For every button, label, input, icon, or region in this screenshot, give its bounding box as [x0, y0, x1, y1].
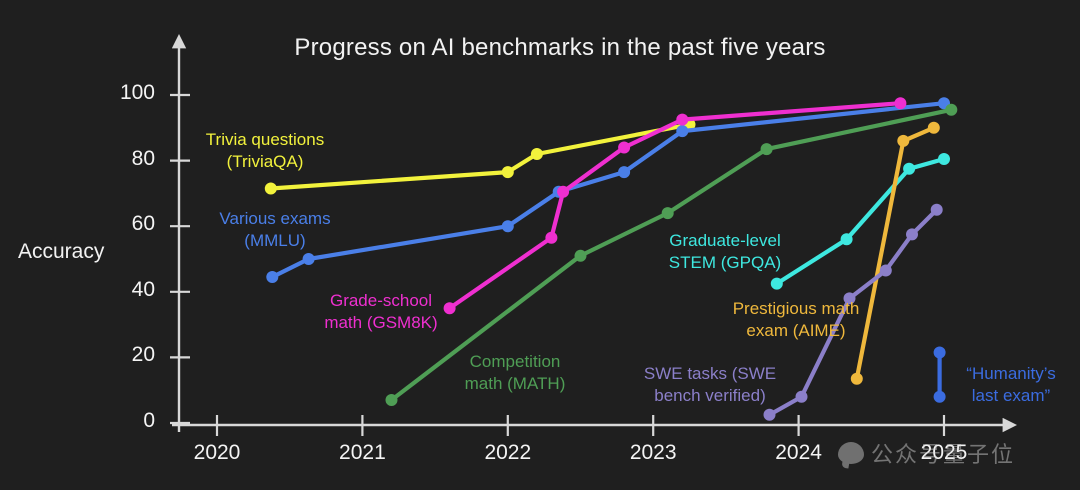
- series-label-line: Trivia questions: [190, 129, 340, 151]
- y-tick-label: 40: [85, 278, 155, 302]
- series-label-line: (MMLU): [200, 230, 350, 252]
- series-label-line: Graduate-level: [650, 230, 800, 252]
- chart-plot-area: [0, 0, 1080, 490]
- series-label-7: “Humanity’slast exam”: [946, 363, 1076, 407]
- series-5: [851, 122, 940, 385]
- y-tick-label: 100: [85, 81, 155, 105]
- y-tick-label: 0: [85, 409, 155, 433]
- series-label-line: Various exams: [200, 208, 350, 230]
- y-tick-label: 60: [85, 212, 155, 236]
- x-tick-label: 2024: [754, 441, 844, 465]
- series-label-line: math (MATH): [440, 373, 590, 395]
- series-label-line: Grade-school: [306, 290, 456, 312]
- series-label-4: Graduate-levelSTEM (GPQA): [650, 230, 800, 274]
- series-label-line: STEM (GPQA): [650, 252, 800, 274]
- series-label-5: Prestigious mathexam (AIME): [716, 298, 876, 342]
- series-label-line: exam (AIME): [716, 320, 876, 342]
- x-tick-label: 2023: [608, 441, 698, 465]
- series-label-line: (TriviaQA): [190, 151, 340, 173]
- x-tick-label: 2022: [463, 441, 553, 465]
- chart-series-group: [265, 97, 958, 421]
- y-tick-label: 20: [85, 343, 155, 367]
- series-label-6: SWE tasks (SWEbench verified): [625, 363, 795, 407]
- y-axis-label: Accuracy: [18, 240, 104, 264]
- series-label-line: last exam”: [946, 385, 1076, 407]
- series-label-line: SWE tasks (SWE: [625, 363, 795, 385]
- series-label-line: bench verified): [625, 385, 795, 407]
- series-label-line: “Humanity’s: [946, 363, 1076, 385]
- series-1: [266, 97, 950, 283]
- series-label-3: Competitionmath (MATH): [440, 351, 590, 395]
- series-label-line: math (GSM8K): [306, 312, 456, 334]
- x-tick-label: 2020: [172, 441, 262, 465]
- chart-title: Progress on AI benchmarks in the past fi…: [0, 34, 1080, 62]
- series-label-line: Competition: [440, 351, 590, 373]
- series-label-1: Various exams(MMLU): [200, 208, 350, 252]
- series-7: [934, 347, 946, 403]
- chart-container: Progress on AI benchmarks in the past fi…: [0, 0, 1080, 490]
- series-label-line: Prestigious math: [716, 298, 876, 320]
- x-tick-label: 2025: [899, 441, 989, 465]
- series-label-2: Grade-schoolmath (GSM8K): [306, 290, 456, 334]
- y-tick-label: 80: [85, 147, 155, 171]
- series-label-0: Trivia questions(TriviaQA): [190, 129, 340, 173]
- x-tick-label: 2021: [317, 441, 407, 465]
- series-2: [444, 97, 907, 314]
